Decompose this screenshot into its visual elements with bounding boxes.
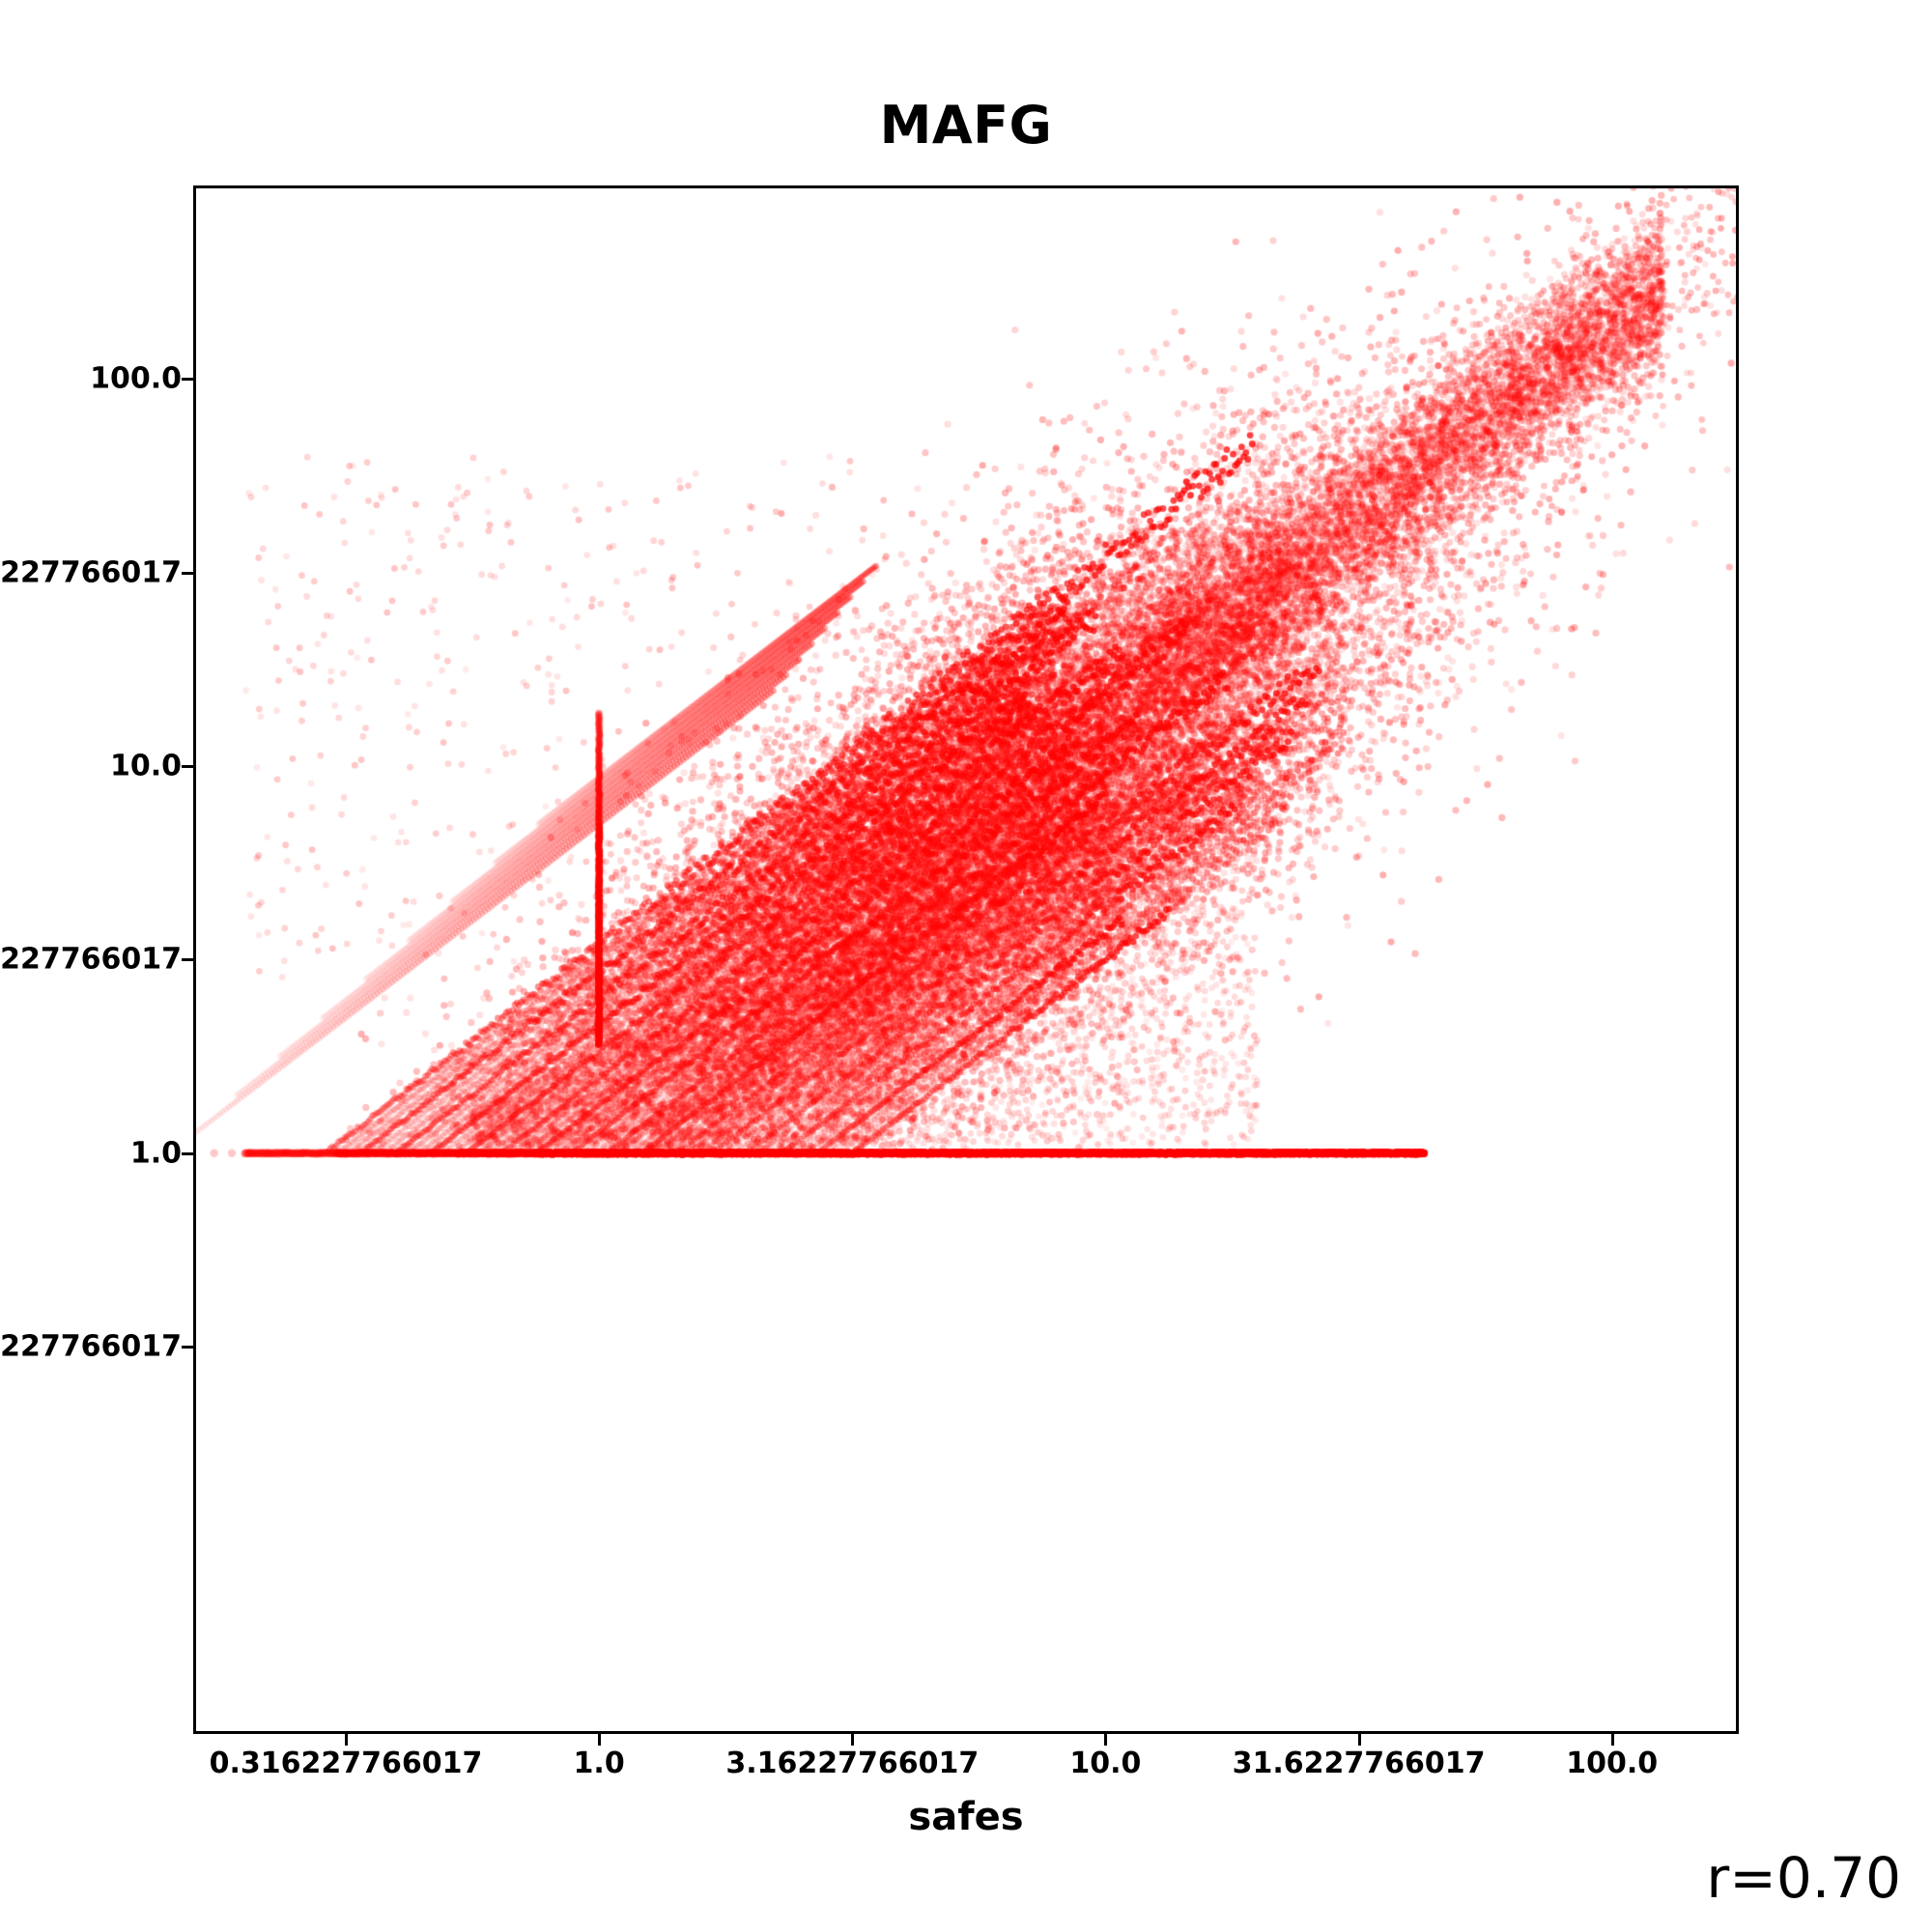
x-axis-tick-label: 31.6227766017 bbox=[1233, 1747, 1486, 1780]
y-axis-tick-mark bbox=[182, 378, 193, 381]
x-axis-tick-mark bbox=[345, 1734, 348, 1746]
x-axis-tick-mark bbox=[1611, 1734, 1614, 1746]
y-axis-tick-mark bbox=[182, 958, 193, 961]
y-axis-tick-mark bbox=[182, 572, 193, 575]
y-axis-tick-label: 6227766017 bbox=[0, 555, 182, 589]
figure-canvas: MAFG 100.0622776601710.062277660171.0622… bbox=[0, 0, 1932, 1932]
x-axis-tick-label: 3.16227766017 bbox=[725, 1747, 979, 1780]
x-axis-tick-mark bbox=[1358, 1734, 1361, 1746]
y-axis-tick-label: 6227766017 bbox=[0, 1330, 182, 1364]
y-axis-tick-label: 6227766017 bbox=[0, 943, 182, 977]
x-axis-tick-label: 1.0 bbox=[574, 1747, 625, 1780]
x-axis-label: safes bbox=[0, 1795, 1932, 1839]
y-axis-tick-mark bbox=[182, 1346, 193, 1349]
page-title: MAFG bbox=[0, 95, 1932, 156]
plot-area bbox=[193, 185, 1739, 1734]
y-axis-tick-mark bbox=[182, 765, 193, 768]
x-axis-tick-label: 0.316227766017 bbox=[210, 1747, 483, 1780]
y-axis-tick-label: 1.0 bbox=[130, 1136, 182, 1170]
x-axis-tick-mark bbox=[851, 1734, 854, 1746]
x-axis-tick-mark bbox=[598, 1734, 601, 1746]
correlation-annotation: r=0.70 bbox=[1706, 1845, 1901, 1911]
y-axis-tick-mark bbox=[182, 1152, 193, 1155]
x-axis-tick-mark bbox=[1104, 1734, 1107, 1746]
x-axis-tick-label: 100.0 bbox=[1566, 1747, 1658, 1780]
y-axis-tick-label: 10.0 bbox=[110, 749, 182, 782]
y-axis-tick-label: 100.0 bbox=[90, 362, 182, 396]
x-axis-tick-label: 10.0 bbox=[1069, 1747, 1141, 1780]
scatter-plot-canvas bbox=[196, 188, 1736, 1731]
